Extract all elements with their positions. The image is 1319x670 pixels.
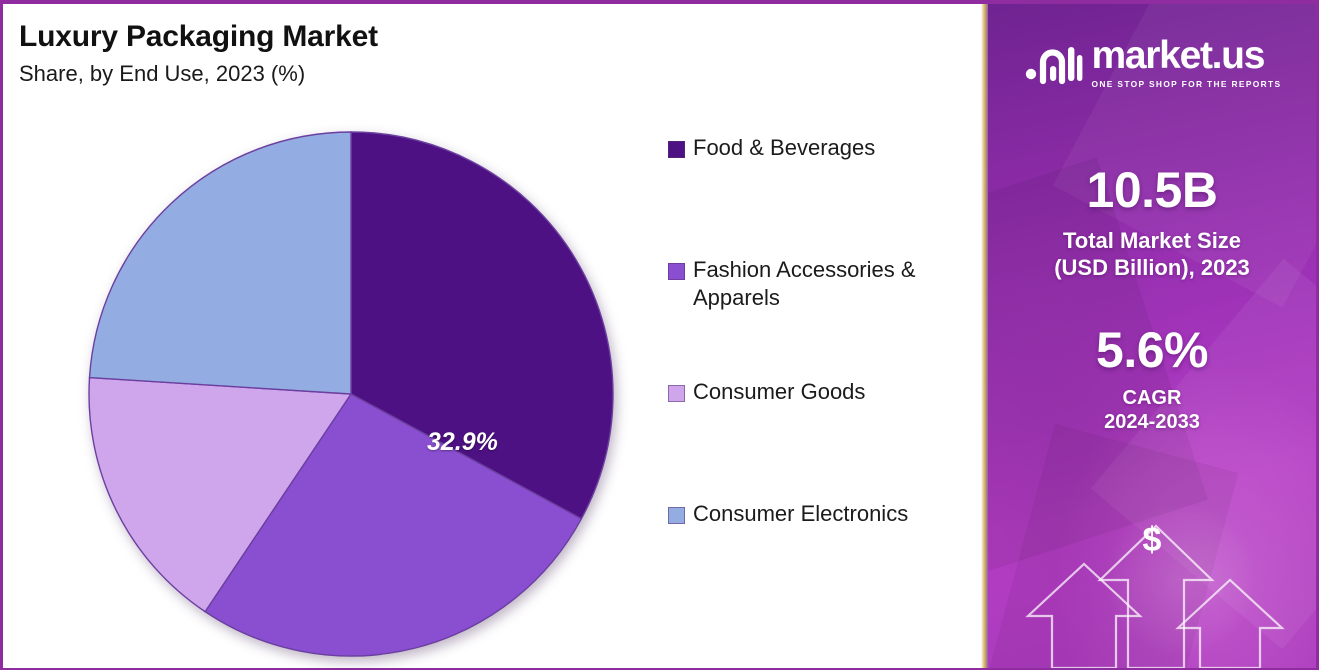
stat-cagr-caption-line2: 2024-2033 <box>988 410 1316 434</box>
market-us-logo-icon <box>1023 41 1083 85</box>
brand-logo[interactable]: market.us ONE STOP SHOP FOR THE REPORTS <box>988 36 1316 89</box>
stat-spacer <box>988 282 1316 324</box>
legend-item-consumer-goods[interactable]: Consumer Goods <box>668 378 978 500</box>
legend-label-consumer-electronics: Consumer Electronics <box>693 500 908 528</box>
title-block: Luxury Packaging Market Share, by End Us… <box>19 20 378 87</box>
infographic-frame: Luxury Packaging Market Share, by End Us… <box>0 0 1319 670</box>
stat-market-size-caption-line1: Total Market Size <box>988 227 1316 254</box>
brand-logo-text: market.us ONE STOP SHOP FOR THE REPORTS <box>1092 36 1282 89</box>
page-subtitle: Share, by End Use, 2023 (%) <box>19 61 378 87</box>
brand-stats: 10.5B Total Market Size (USD Billion), 2… <box>988 164 1316 434</box>
legend-swatch-icon-fashion-accessories-apparels <box>668 263 685 280</box>
legend-item-food-beverages[interactable]: Food & Beverages <box>668 134 978 256</box>
growth-arrows-icon <box>988 508 1316 668</box>
pie-slice[interactable] <box>90 132 351 394</box>
legend-label-consumer-goods: Consumer Goods <box>693 378 865 406</box>
legend-swatch-icon-consumer-electronics <box>668 507 685 524</box>
brand-wordmark: market.us <box>1092 36 1282 75</box>
brand-panel: market.us ONE STOP SHOP FOR THE REPORTS … <box>988 4 1316 668</box>
chart-panel: Luxury Packaging Market Share, by End Us… <box>3 4 981 668</box>
pie-chart-svg <box>85 128 617 660</box>
legend-swatch-icon-food-beverages <box>668 141 685 158</box>
legend-item-fashion-accessories-apparels[interactable]: Fashion Accessories & Apparels <box>668 256 978 378</box>
legend-label-food-beverages: Food & Beverages <box>693 134 875 162</box>
panel-divider <box>981 4 988 668</box>
pie-slice-label-food-beverages: 32.9% <box>427 428 498 457</box>
pie-chart: 32.9% <box>85 128 617 660</box>
stat-cagr-value: 5.6% <box>988 324 1316 377</box>
brand-tagline: ONE STOP SHOP FOR THE REPORTS <box>1092 79 1282 89</box>
stat-market-size-value: 10.5B <box>988 164 1316 217</box>
legend-swatch-icon-consumer-goods <box>668 385 685 402</box>
legend: Food & Beverages Fashion Accessories & A… <box>668 134 978 528</box>
legend-item-consumer-electronics[interactable]: Consumer Electronics <box>668 500 978 528</box>
stat-cagr-caption-line1: CAGR <box>988 386 1316 410</box>
stat-market-size-caption-line2: (USD Billion), 2023 <box>988 254 1316 281</box>
legend-label-fashion-accessories-apparels: Fashion Accessories & Apparels <box>693 256 978 312</box>
page-title: Luxury Packaging Market <box>19 20 378 54</box>
